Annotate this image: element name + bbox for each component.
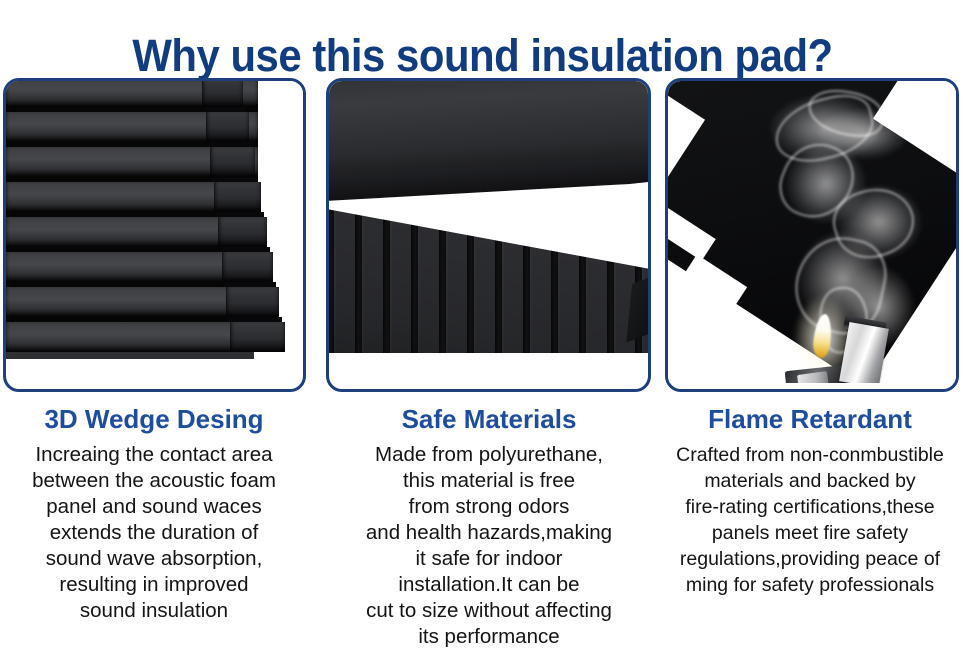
feature-card-flame-retardant bbox=[665, 78, 959, 392]
feature-text-columns: 3D Wedge Desing Increaing the contact ar… bbox=[0, 402, 965, 645]
wedge-step bbox=[206, 112, 249, 142]
wedge-step-groove bbox=[212, 177, 258, 182]
foam-groove bbox=[411, 225, 418, 353]
foam-groove bbox=[383, 220, 390, 353]
feature-title-flame-retardant: Flame Retardant bbox=[655, 402, 965, 436]
page-title: Why use this sound insulation pad? bbox=[34, 28, 931, 84]
foam-groove bbox=[551, 251, 558, 353]
foam-slab-surface bbox=[329, 201, 648, 353]
feature-text-safe-materials: Safe Materials Made from polyurethane, t… bbox=[326, 402, 652, 650]
wedge-step-groove bbox=[208, 142, 252, 147]
3d-wedge-foam-photo bbox=[6, 81, 303, 359]
wedge-ridge bbox=[6, 252, 258, 282]
feature-card-safe-materials bbox=[326, 78, 651, 392]
feature-image-cards bbox=[0, 78, 965, 394]
wedge-step-groove bbox=[216, 212, 264, 217]
foam-groove bbox=[439, 230, 446, 353]
foam-groove bbox=[579, 256, 586, 353]
wedge-step bbox=[202, 81, 243, 107]
feature-card-3d-wedge bbox=[3, 78, 306, 392]
wedge-ridge bbox=[6, 322, 258, 352]
wedge-step bbox=[226, 287, 279, 317]
feature-body-3d-wedge: Increaing the contact area between the a… bbox=[2, 442, 306, 624]
flame-test-photo bbox=[668, 81, 956, 383]
foam-groove bbox=[495, 240, 502, 353]
flame-test-illustration bbox=[668, 81, 956, 383]
foam-groove bbox=[355, 214, 362, 353]
feature-body-safe-materials: Made from polyurethane, this material is… bbox=[326, 442, 652, 650]
wedge-step bbox=[230, 322, 285, 352]
wedge-foam-illustration bbox=[6, 81, 303, 359]
foam-slab-face bbox=[329, 201, 648, 353]
feature-body-flame-retardant: Crafted from non-conmbustible materials … bbox=[655, 442, 965, 598]
foam-groove bbox=[467, 235, 474, 353]
feature-text-3d-wedge: 3D Wedge Desing Increaing the contact ar… bbox=[2, 402, 306, 624]
wedge-step-groove bbox=[228, 317, 282, 322]
wedge-step bbox=[214, 182, 261, 212]
foam-groove bbox=[607, 261, 614, 353]
wedge-step-groove bbox=[220, 247, 270, 252]
feature-text-flame-retardant: Flame Retardant Crafted from non-conmbus… bbox=[655, 402, 965, 598]
rolled-foam-illustration bbox=[329, 81, 648, 353]
product-feature-infographic: Why use this sound insulation pad? bbox=[0, 0, 965, 645]
wedge-step-groove bbox=[204, 107, 246, 112]
wedge-step bbox=[222, 252, 273, 282]
wedge-ridge bbox=[6, 287, 258, 317]
rolled-foam-sheet-photo bbox=[329, 81, 648, 353]
foam-groove bbox=[523, 245, 530, 353]
feature-title-safe-materials: Safe Materials bbox=[326, 402, 652, 436]
feature-title-3d-wedge: 3D Wedge Desing bbox=[2, 402, 306, 436]
wedge-step bbox=[210, 147, 255, 177]
wedge-step bbox=[218, 217, 267, 247]
foam-groove bbox=[329, 209, 334, 353]
wedge-step-groove bbox=[224, 282, 276, 287]
